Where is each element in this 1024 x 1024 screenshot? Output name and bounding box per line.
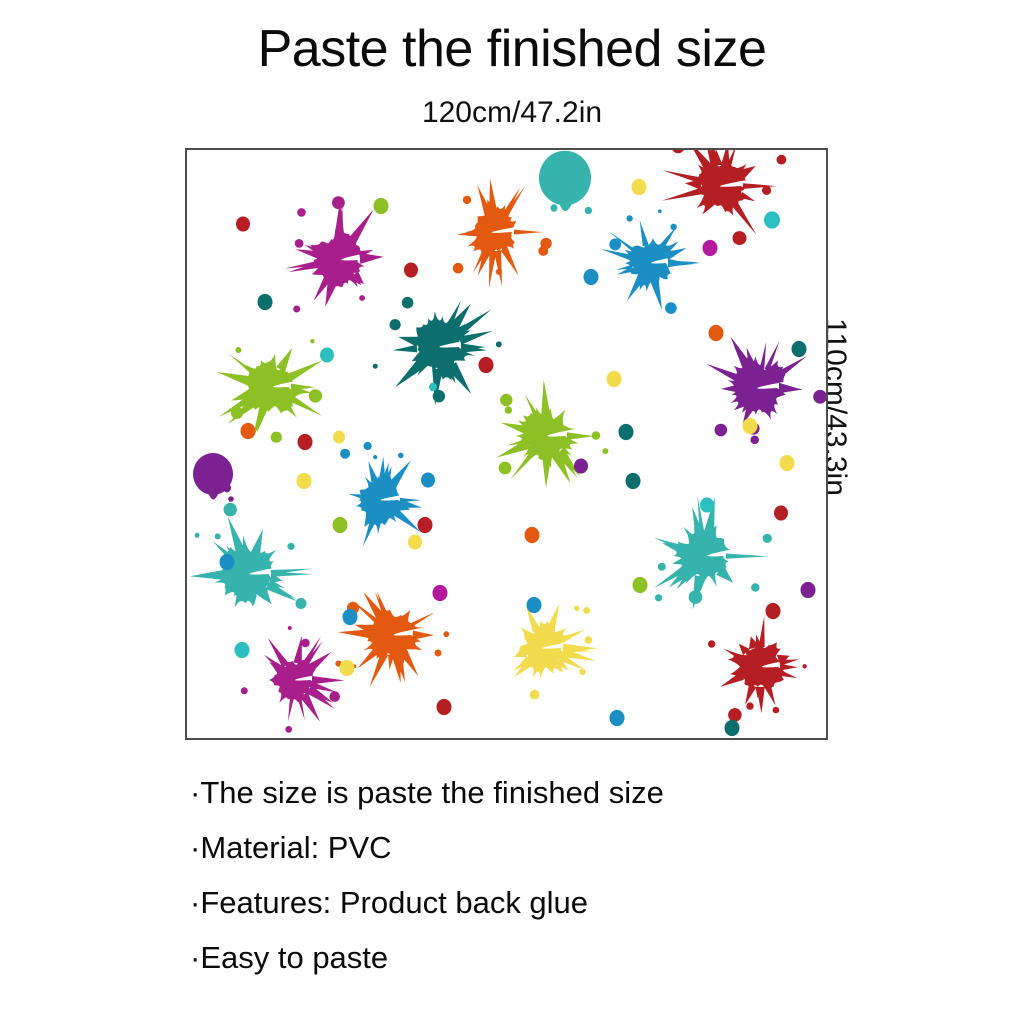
paint-dot (320, 347, 334, 362)
splat-darkteal-mid-left (373, 297, 502, 406)
paint-dot (725, 720, 740, 736)
paint-dot (584, 269, 599, 285)
paint-dot (764, 211, 780, 228)
product-spec-list: ·The size is paste the finished size ·Ma… (190, 765, 890, 985)
paint-dot (223, 484, 231, 493)
paint-dot (610, 710, 625, 726)
paint-dot (298, 434, 313, 450)
spec-line: ·The size is paste the finished size (190, 765, 890, 820)
paint-dot (343, 609, 358, 625)
paint-dot (700, 497, 714, 512)
paint-splatter-artwork (187, 150, 826, 738)
paint-dot (766, 603, 781, 619)
splat-blue-top-right (601, 209, 700, 314)
splat-darkred-bottom (708, 616, 807, 722)
paint-dot (333, 431, 345, 444)
paint-dot (743, 418, 758, 434)
paint-dot (235, 642, 250, 658)
paint-dot (297, 473, 312, 489)
paint-dot (404, 262, 418, 277)
splat-turquoise-left (190, 503, 314, 609)
blob-turquoise-top (539, 151, 592, 214)
paint-dot (792, 341, 807, 357)
paint-dot (626, 473, 641, 489)
paint-dot (551, 204, 558, 212)
paint-dot (574, 458, 588, 473)
paint-dot (633, 577, 648, 593)
width-dimension-label: 120cm/47.2in (0, 96, 1024, 130)
paint-dot (525, 527, 540, 543)
paint-dot (607, 371, 622, 387)
paint-dot (619, 424, 634, 440)
splat-green-mid (497, 380, 609, 489)
splat-orange-top-mid (453, 179, 552, 288)
paint-dot (374, 198, 389, 214)
paint-dot (801, 582, 816, 598)
paint-dot (429, 383, 437, 392)
page-title: Paste the finished size (0, 22, 1024, 77)
splat-magenta-bottom (241, 626, 345, 733)
paint-dot (433, 585, 448, 601)
paint-dot (780, 455, 795, 471)
paint-dot (479, 357, 494, 373)
paint-dot (236, 216, 250, 231)
paint-dot (632, 179, 647, 195)
paint-dot (408, 534, 422, 549)
blob-purple-left (193, 453, 234, 502)
paint-dot (774, 505, 788, 520)
splat-blue-mid-left (338, 442, 422, 547)
sticker-preview-canvas (185, 148, 828, 740)
paint-dot (241, 423, 256, 439)
paint-dot (418, 517, 433, 533)
paint-dot (220, 554, 235, 570)
paint-dot (333, 517, 348, 533)
splat-purple-right (706, 337, 826, 444)
spec-line: ·Easy to paste (190, 930, 890, 985)
paint-dot (437, 699, 452, 715)
paint-dot (340, 660, 355, 676)
splat-turquoise-right (654, 495, 772, 609)
paint-dot (258, 294, 273, 310)
paint-dot (421, 472, 435, 487)
paint-dot (527, 597, 542, 613)
splat-darkred-top-right (662, 150, 787, 245)
paint-dot (703, 240, 718, 256)
spec-line: ·Features: Product back glue (190, 875, 890, 930)
splat-magenta-top-left (285, 196, 384, 312)
paint-dot (709, 325, 724, 341)
splat-green-left (217, 339, 323, 443)
spec-line: ·Material: PVC (190, 820, 890, 875)
splat-yellow-bottom (514, 603, 598, 699)
